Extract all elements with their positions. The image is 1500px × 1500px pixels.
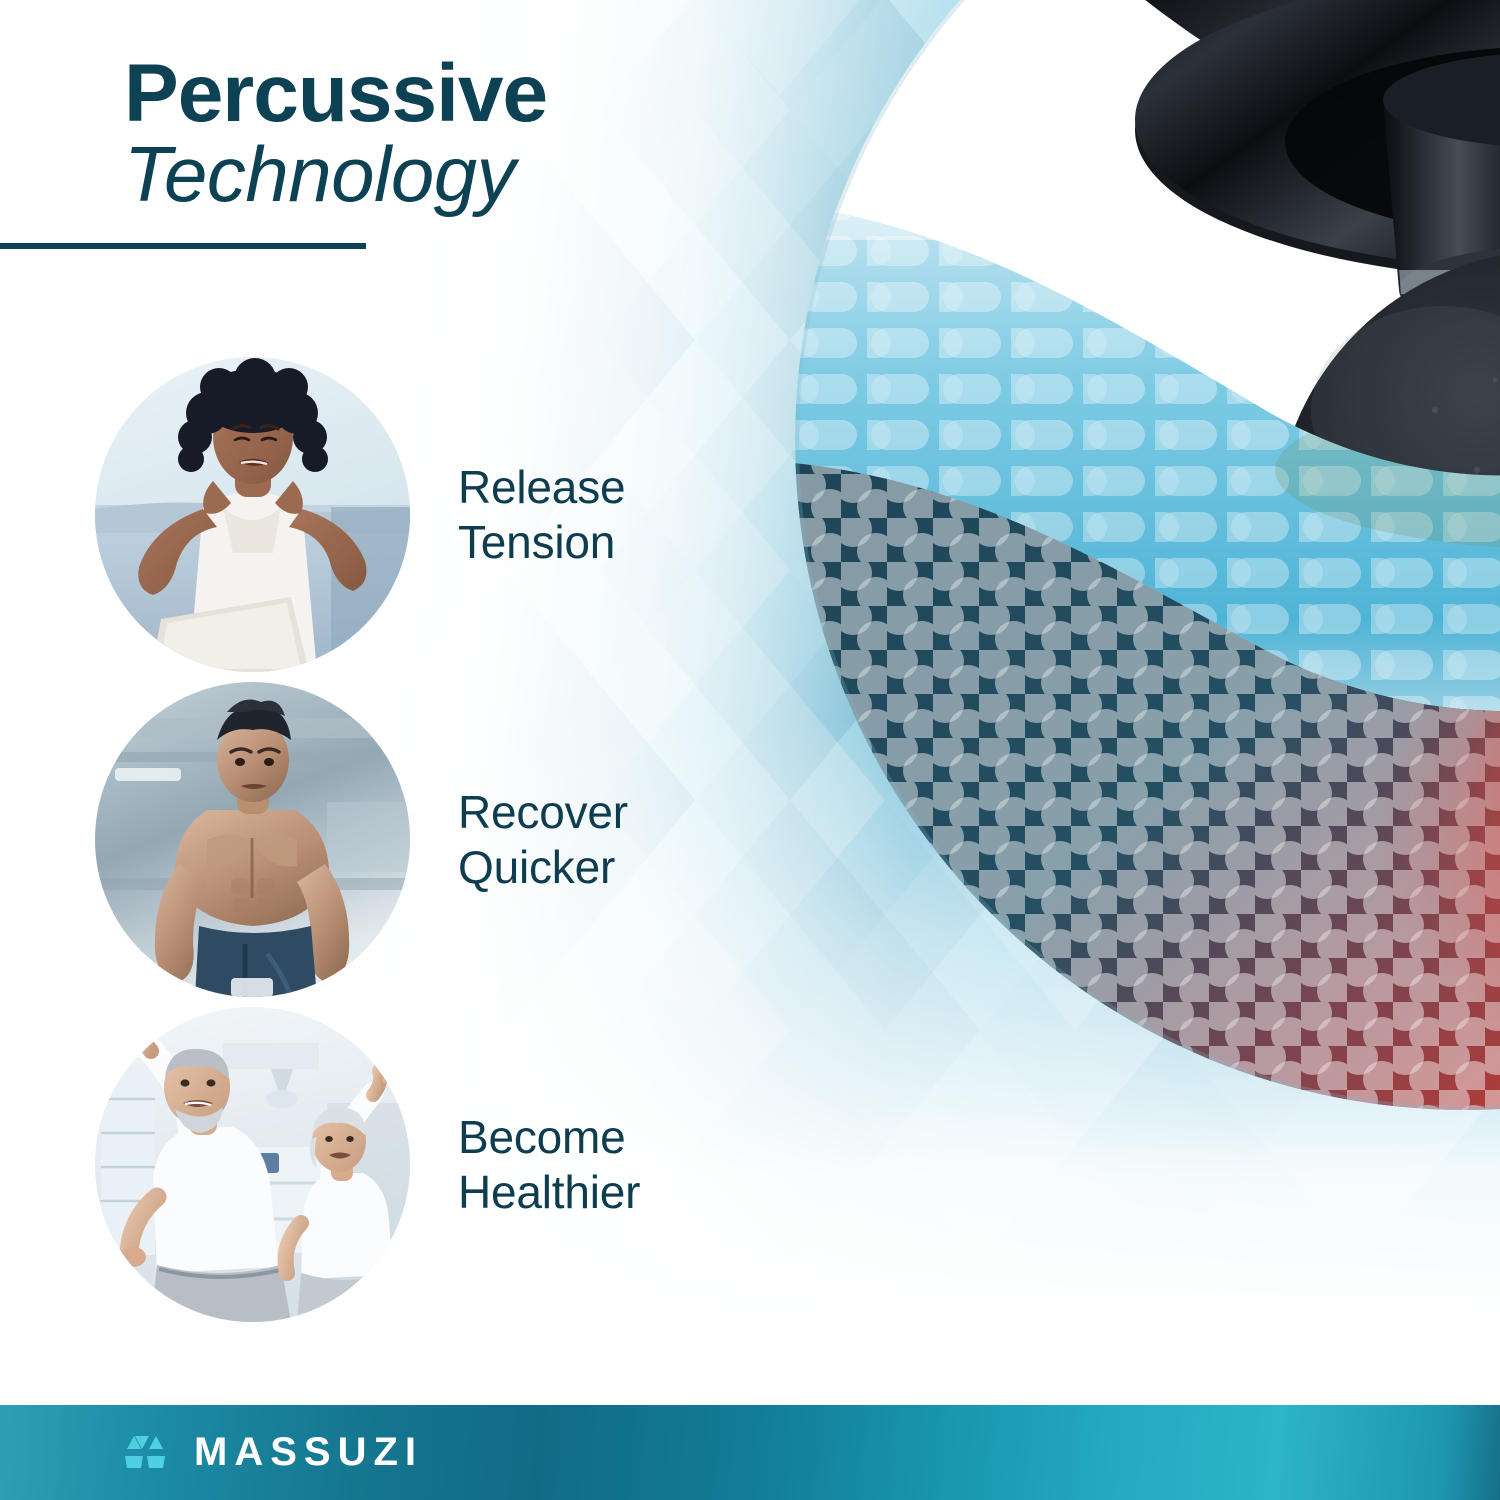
feature-label-become-healthier: Become Healthier <box>458 1110 640 1219</box>
massuzi-logo-icon <box>122 1434 168 1472</box>
page-title-line2: Technology <box>124 136 547 212</box>
feature-row-recover-quicker: Recover Quicker <box>95 682 628 997</box>
title-divider <box>0 243 366 249</box>
brand-name: MASSUZI <box>194 1430 423 1475</box>
page-title: Percussive Technology <box>124 54 547 213</box>
product-infographic: Percussive Technology <box>0 0 1500 1500</box>
athlete-workout-photo <box>95 682 410 997</box>
feature-label-recover-quicker: Recover Quicker <box>458 785 628 894</box>
footer-bar: MASSUZI <box>0 1405 1500 1500</box>
neck-pain-photo <box>95 357 410 672</box>
feature-row-release-tension: Release Tension <box>95 357 625 672</box>
brand-lockup: MASSUZI <box>122 1430 423 1475</box>
feature-label-release-tension: Release Tension <box>458 460 625 569</box>
page-title-line1: Percussive <box>124 54 547 134</box>
senior-couple-stretching-photo <box>95 1007 410 1322</box>
senior-couple-photo: Become Healthier <box>95 1007 640 1322</box>
